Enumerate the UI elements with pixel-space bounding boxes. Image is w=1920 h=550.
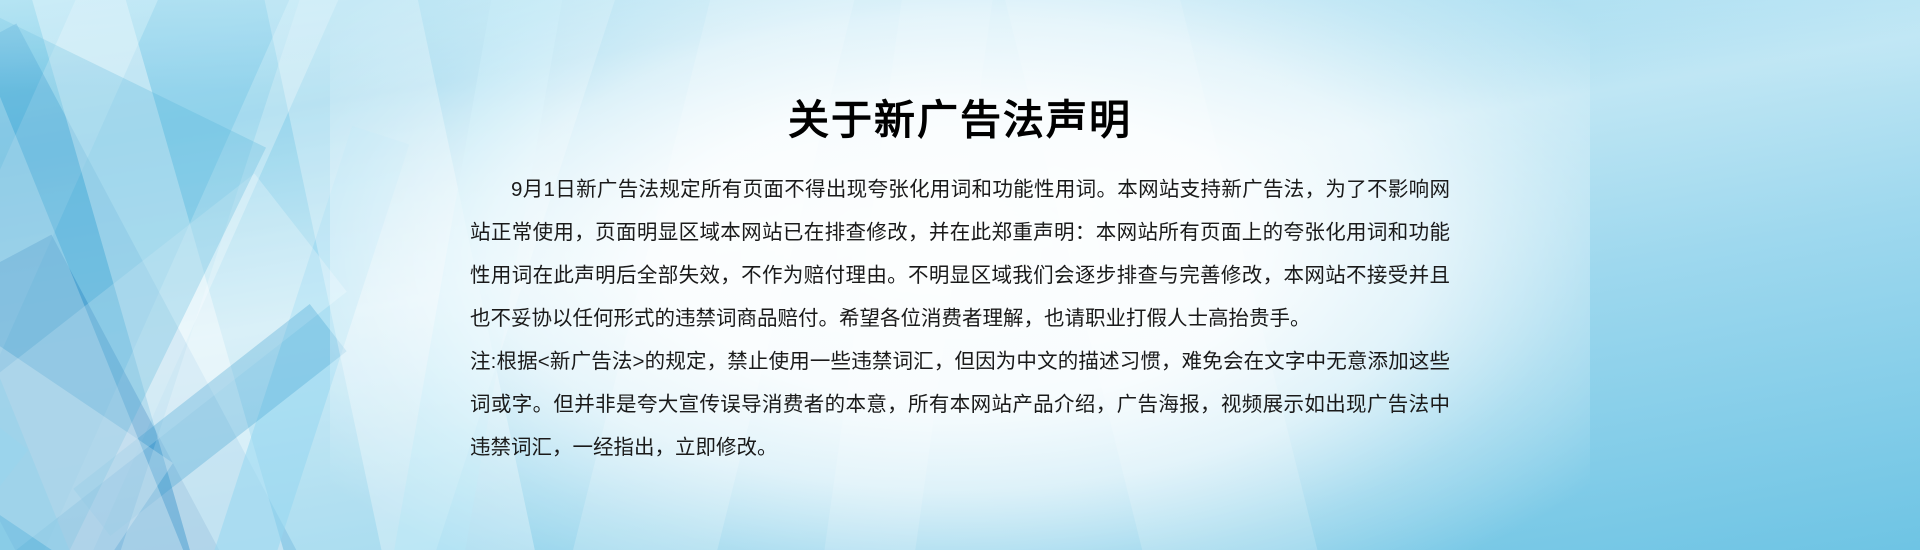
statement-paragraph-1: 9月1日新广告法规定所有页面不得出现夸张化用词和功能性用词。本网站支持新广告法，… [470, 168, 1450, 340]
statement-content: 关于新广告法声明 9月1日新广告法规定所有页面不得出现夸张化用词和功能性用词。本… [0, 0, 1920, 550]
statement-body: 9月1日新广告法规定所有页面不得出现夸张化用词和功能性用词。本网站支持新广告法，… [470, 168, 1450, 469]
advertising-law-statement-banner: 关于新广告法声明 9月1日新广告法规定所有页面不得出现夸张化用词和功能性用词。本… [0, 0, 1920, 550]
page-title: 关于新广告法声明 [788, 96, 1132, 145]
statement-paragraph-2: 注:根据<新广告法>的规定，禁止使用一些违禁词汇，但因为中文的描述习惯，难免会在… [470, 340, 1450, 469]
